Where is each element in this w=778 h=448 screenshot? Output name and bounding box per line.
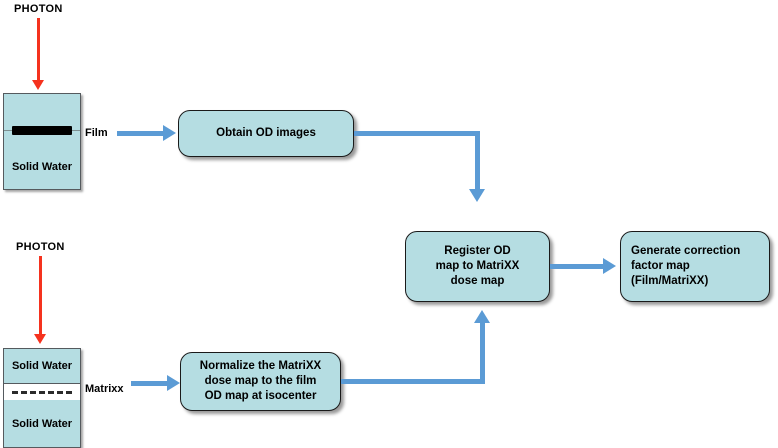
connector-film-to-obtain-od-head (163, 125, 176, 141)
photon-beam-arrow-bottom-head (34, 334, 46, 344)
process-box-generate[interactable]: Generate correction factor map (Film/Mat… (620, 231, 770, 302)
process-box-normalize[interactable]: Normalize the MatriXX dose map to the fi… (180, 352, 341, 411)
matrixx-connector-label: Matrixx (85, 383, 124, 395)
process-box-register-label: Register OD map to MatriXX dose map (416, 244, 539, 289)
photon-beam-arrow-top-head (32, 80, 44, 90)
photon-beam-arrow-bottom-shaft (39, 256, 42, 334)
matrixx-dashed-line (12, 391, 71, 394)
matrixx-phantom-slab-bottom: Solid Water (4, 400, 80, 447)
connector-matrixx-to-normalize-shaft (131, 381, 167, 386)
process-box-obtain-od[interactable]: Obtain OD images (178, 110, 354, 157)
film-connector-label: Film (85, 127, 108, 139)
process-box-generate-label: Generate correction factor map (Film/Mat… (631, 244, 759, 289)
film-strip (12, 126, 72, 135)
connector-matrixx-to-normalize-head (167, 375, 180, 391)
solid-water-label-top: Solid Water (12, 161, 72, 173)
solid-water-label-lower: Solid Water (12, 418, 72, 430)
flowchart-canvas: PHOTON Solid Water Film Obtain OD images… (0, 0, 778, 448)
photon-beam-arrow-top-shaft (37, 18, 40, 80)
connector-register-to-generate-head (603, 258, 616, 274)
process-box-obtain-od-label: Obtain OD images (189, 126, 343, 141)
solid-water-label-upper: Solid Water (12, 360, 72, 372)
film-phantom: Solid Water (3, 93, 81, 190)
process-box-register[interactable]: Register OD map to MatriXX dose map (405, 231, 550, 302)
connector-obtain-od-to-register-shaft-h (354, 131, 480, 136)
connector-film-to-obtain-od-shaft (117, 131, 163, 136)
connector-normalize-to-register-shaft-h (341, 379, 485, 384)
connector-obtain-od-to-register-shaft-v (475, 131, 480, 189)
matrixx-phantom-slab-top: Solid Water (4, 349, 80, 383)
photon-label-bottom: PHOTON (16, 241, 65, 253)
process-box-normalize-label: Normalize the MatriXX dose map to the fi… (191, 359, 330, 404)
film-phantom-slab: Solid Water (4, 146, 80, 188)
connector-normalize-to-register-head (474, 310, 490, 323)
connector-register-to-generate-shaft (550, 264, 603, 269)
connector-obtain-od-to-register-head (469, 189, 485, 202)
connector-normalize-to-register-shaft-v (480, 323, 485, 381)
matrixx-phantom: Solid Water Solid Water (3, 348, 81, 448)
photon-label-top: PHOTON (14, 3, 63, 15)
